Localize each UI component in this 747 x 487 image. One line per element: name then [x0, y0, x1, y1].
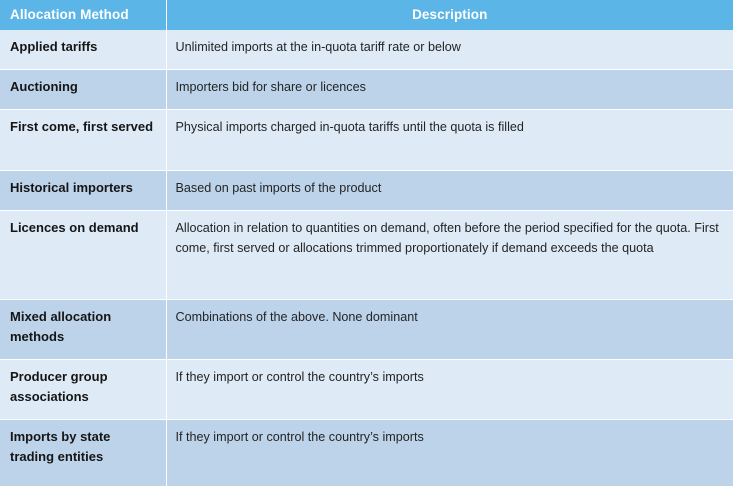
cell-description: Physical imports charged in-quota tariff…: [166, 110, 733, 171]
table-row: Licences on demandAllocation in relation…: [0, 211, 733, 300]
cell-description: Importers bid for share or licences: [166, 70, 733, 110]
table-row: Mixed allocation methodsCombinations of …: [0, 300, 733, 360]
table-row: Historical importersBased on past import…: [0, 171, 733, 211]
table-body: Applied tariffsUnlimited imports at the …: [0, 30, 733, 487]
cell-allocation-method: Imports by state trading entities: [0, 420, 166, 487]
table-row: Imports by state trading entitiesIf they…: [0, 420, 733, 487]
table-row: Applied tariffsUnlimited imports at the …: [0, 30, 733, 70]
cell-allocation-method: Historical importers: [0, 171, 166, 211]
cell-allocation-method: Producer group associations: [0, 360, 166, 420]
table-row: First come, first servedPhysical imports…: [0, 110, 733, 171]
table-header: Allocation Method Description: [0, 0, 733, 30]
cell-allocation-method: Applied tariffs: [0, 30, 166, 70]
table-header-row: Allocation Method Description: [0, 0, 733, 30]
cell-description: Combinations of the above. None dominant: [166, 300, 733, 360]
cell-description: Unlimited imports at the in-quota tariff…: [166, 30, 733, 70]
cell-allocation-method: Auctioning: [0, 70, 166, 110]
cell-description: If they import or control the country’s …: [166, 360, 733, 420]
column-header-description: Description: [166, 0, 733, 30]
cell-description: If they import or control the country’s …: [166, 420, 733, 487]
column-header-allocation-method: Allocation Method: [0, 0, 166, 30]
allocation-methods-table-container: Allocation Method Description Applied ta…: [0, 0, 733, 445]
table-row: AuctioningImporters bid for share or lic…: [0, 70, 733, 110]
cell-allocation-method: Mixed allocation methods: [0, 300, 166, 360]
cell-allocation-method: First come, first served: [0, 110, 166, 171]
allocation-methods-table: Allocation Method Description Applied ta…: [0, 0, 733, 487]
cell-description: Allocation in relation to quantities on …: [166, 211, 733, 300]
cell-description: Based on past imports of the product: [166, 171, 733, 211]
cell-allocation-method: Licences on demand: [0, 211, 166, 300]
table-row: Producer group associationsIf they impor…: [0, 360, 733, 420]
